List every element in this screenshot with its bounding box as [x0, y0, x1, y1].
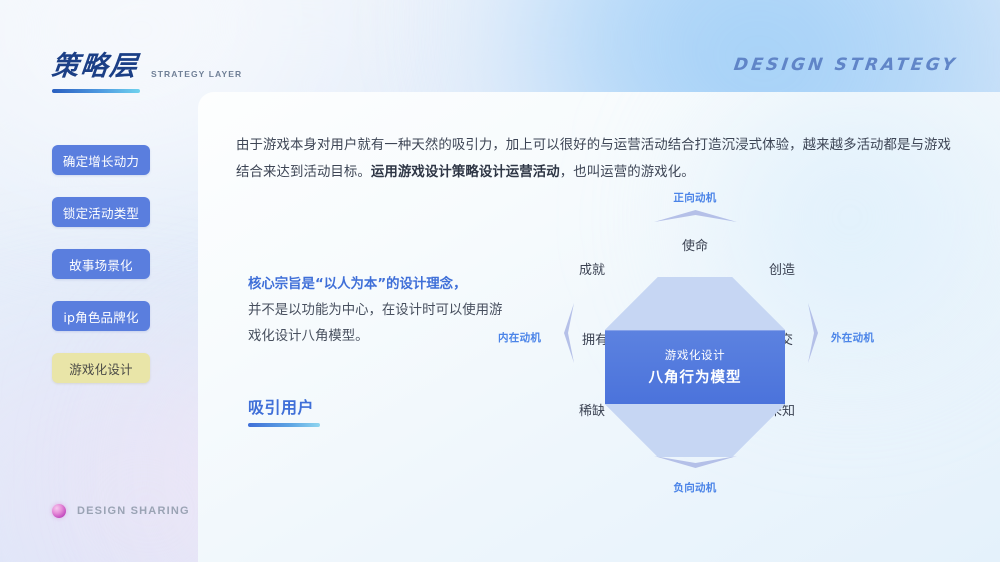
sidebar-item-story-scene[interactable]: 故事场景化	[52, 249, 150, 279]
sidebar-item-gamification[interactable]: 游戏化设计	[52, 353, 150, 383]
octagon-shape-wrapper: 游戏化设计 八角行为模型	[605, 277, 785, 457]
sidebar-item-activity-type[interactable]: 锁定活动类型	[52, 197, 150, 227]
octagon-center-band: 游戏化设计 八角行为模型	[605, 330, 785, 405]
blurb-rest: 并不是以功能为中心，在设计时可以使用游戏化设计八角模型。	[248, 303, 502, 344]
content-panel: 由于游戏本身对用户就有一种天然的吸引力，加上可以很好的与运营活动结合打造沉浸式体…	[198, 92, 1000, 562]
intro-text-part2: ，也叫运营的游戏化。	[560, 165, 695, 180]
motive-label-intrinsic: 内在动机	[498, 330, 541, 345]
blurb-paragraph: 核心宗旨是“以人为本”的设计理念，并不是以功能为中心，在设计时可以使用游戏化设计…	[248, 272, 510, 350]
motive-label-negative: 负向动机	[673, 480, 716, 495]
blurb-lead: 核心宗旨是“以人为本”的设计理念，	[248, 272, 510, 298]
page-header: 策略层 STRATEGY LAYER	[52, 44, 242, 93]
attract-users-heading-block: 吸引用户	[248, 394, 320, 427]
sphere-icon	[52, 504, 66, 518]
intro-text-bold: 运用游戏设计策略设计运营活动	[371, 165, 560, 180]
chevron-up-icon	[653, 208, 738, 224]
sidebar-item-growth[interactable]: 确定增长动力	[52, 145, 150, 175]
node-creation: 创造	[769, 259, 795, 278]
attract-users-underline	[248, 423, 320, 427]
node-mission: 使命	[682, 235, 708, 254]
sidebar-item-ip-brand[interactable]: ip角色品牌化	[52, 301, 150, 331]
page-title: 策略层	[50, 44, 141, 83]
attract-users-heading: 吸引用户	[248, 394, 320, 418]
motive-label-extrinsic: 外在动机	[831, 330, 874, 345]
node-scarcity: 稀缺	[579, 400, 605, 419]
sidebar: 确定增长动力 锁定活动类型 故事场景化 ip角色品牌化 游戏化设计	[52, 145, 152, 405]
center-label-line1: 游戏化设计	[665, 347, 726, 363]
center-label-line2: 八角行为模型	[649, 366, 742, 387]
intro-paragraph: 由于游戏本身对用户就有一种天然的吸引力，加上可以很好的与运营活动结合打造沉浸式体…	[236, 132, 960, 187]
lens-left-icon	[561, 302, 577, 364]
section-label-design-strategy: DESIGN STRATEGY	[733, 55, 959, 75]
footer: DESIGN SHARING	[52, 504, 190, 518]
title-underline	[52, 89, 140, 93]
title-row: 策略层 STRATEGY LAYER	[52, 44, 242, 83]
lens-right-icon	[805, 302, 821, 364]
footer-brand: DESIGN SHARING	[77, 505, 190, 517]
page-subtitle: STRATEGY LAYER	[151, 69, 242, 83]
octagon-behavior-model-diagram: 正向动机 负向动机 内在动机 外在动机 使命 成就 创造 拥有	[543, 182, 943, 562]
motive-label-positive: 正向动机	[673, 190, 716, 205]
node-achievement: 成就	[579, 259, 605, 278]
